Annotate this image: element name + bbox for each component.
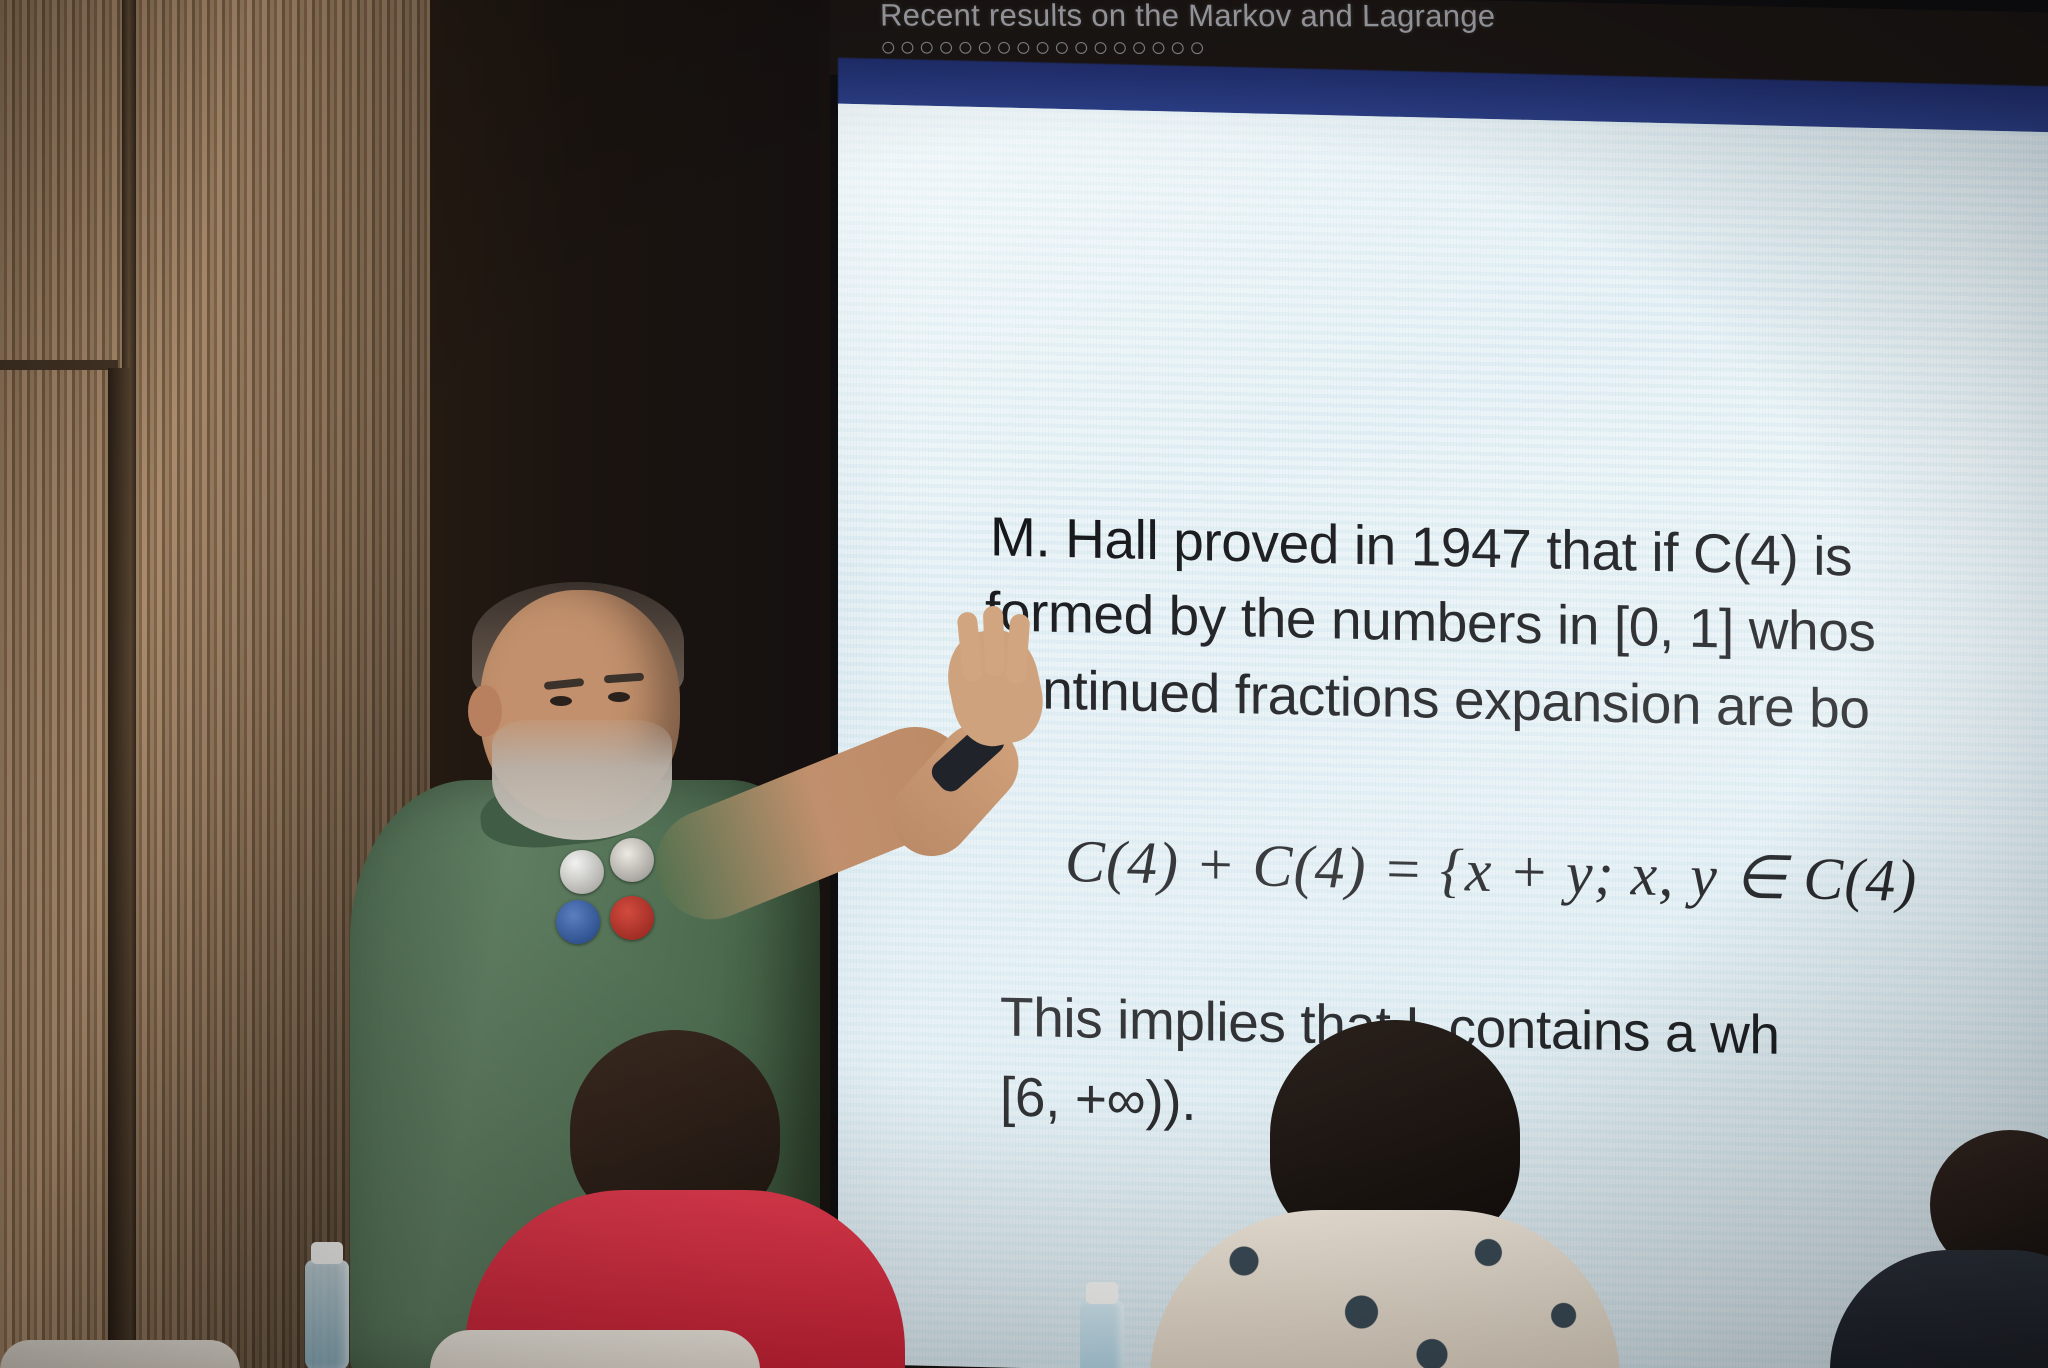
slide-closing-line-2: [6, +∞)). xyxy=(1000,1064,1196,1133)
badge-white-top-left-icon xyxy=(560,850,604,894)
speaker-ear xyxy=(468,685,502,737)
slide-line-2: formed by the numbers in [0, 1] whos xyxy=(985,579,1876,664)
badge-white-top-right-icon xyxy=(610,838,654,882)
slide-line-3: continued fractions expansion are bo xyxy=(985,656,1870,741)
slide-line-1: M. Hall proved in 1947 that if C(4) is xyxy=(990,504,1852,588)
foreground-chair-left xyxy=(430,1330,760,1368)
water-bottle-left xyxy=(305,1260,349,1368)
water-bottle-center xyxy=(1080,1300,1124,1368)
slide-equation: C(4) + C(4) = {x + y; x, y ∈ C(4) xyxy=(1065,826,1917,916)
badge-blue-icon xyxy=(556,900,600,944)
foreground-chair-far-left xyxy=(0,1340,240,1368)
speaker-beard xyxy=(492,720,672,840)
bottle-cap-icon xyxy=(311,1242,343,1264)
lecture-room-photo: Recent results on the Markov and Lagrang… xyxy=(0,0,2048,1368)
speaker-eye-right xyxy=(608,692,630,702)
bottle-cap-icon xyxy=(1086,1282,1118,1304)
speaker-finger-2 xyxy=(983,606,1005,677)
badge-red-icon xyxy=(610,896,654,940)
speaker-eye-left xyxy=(550,696,572,706)
